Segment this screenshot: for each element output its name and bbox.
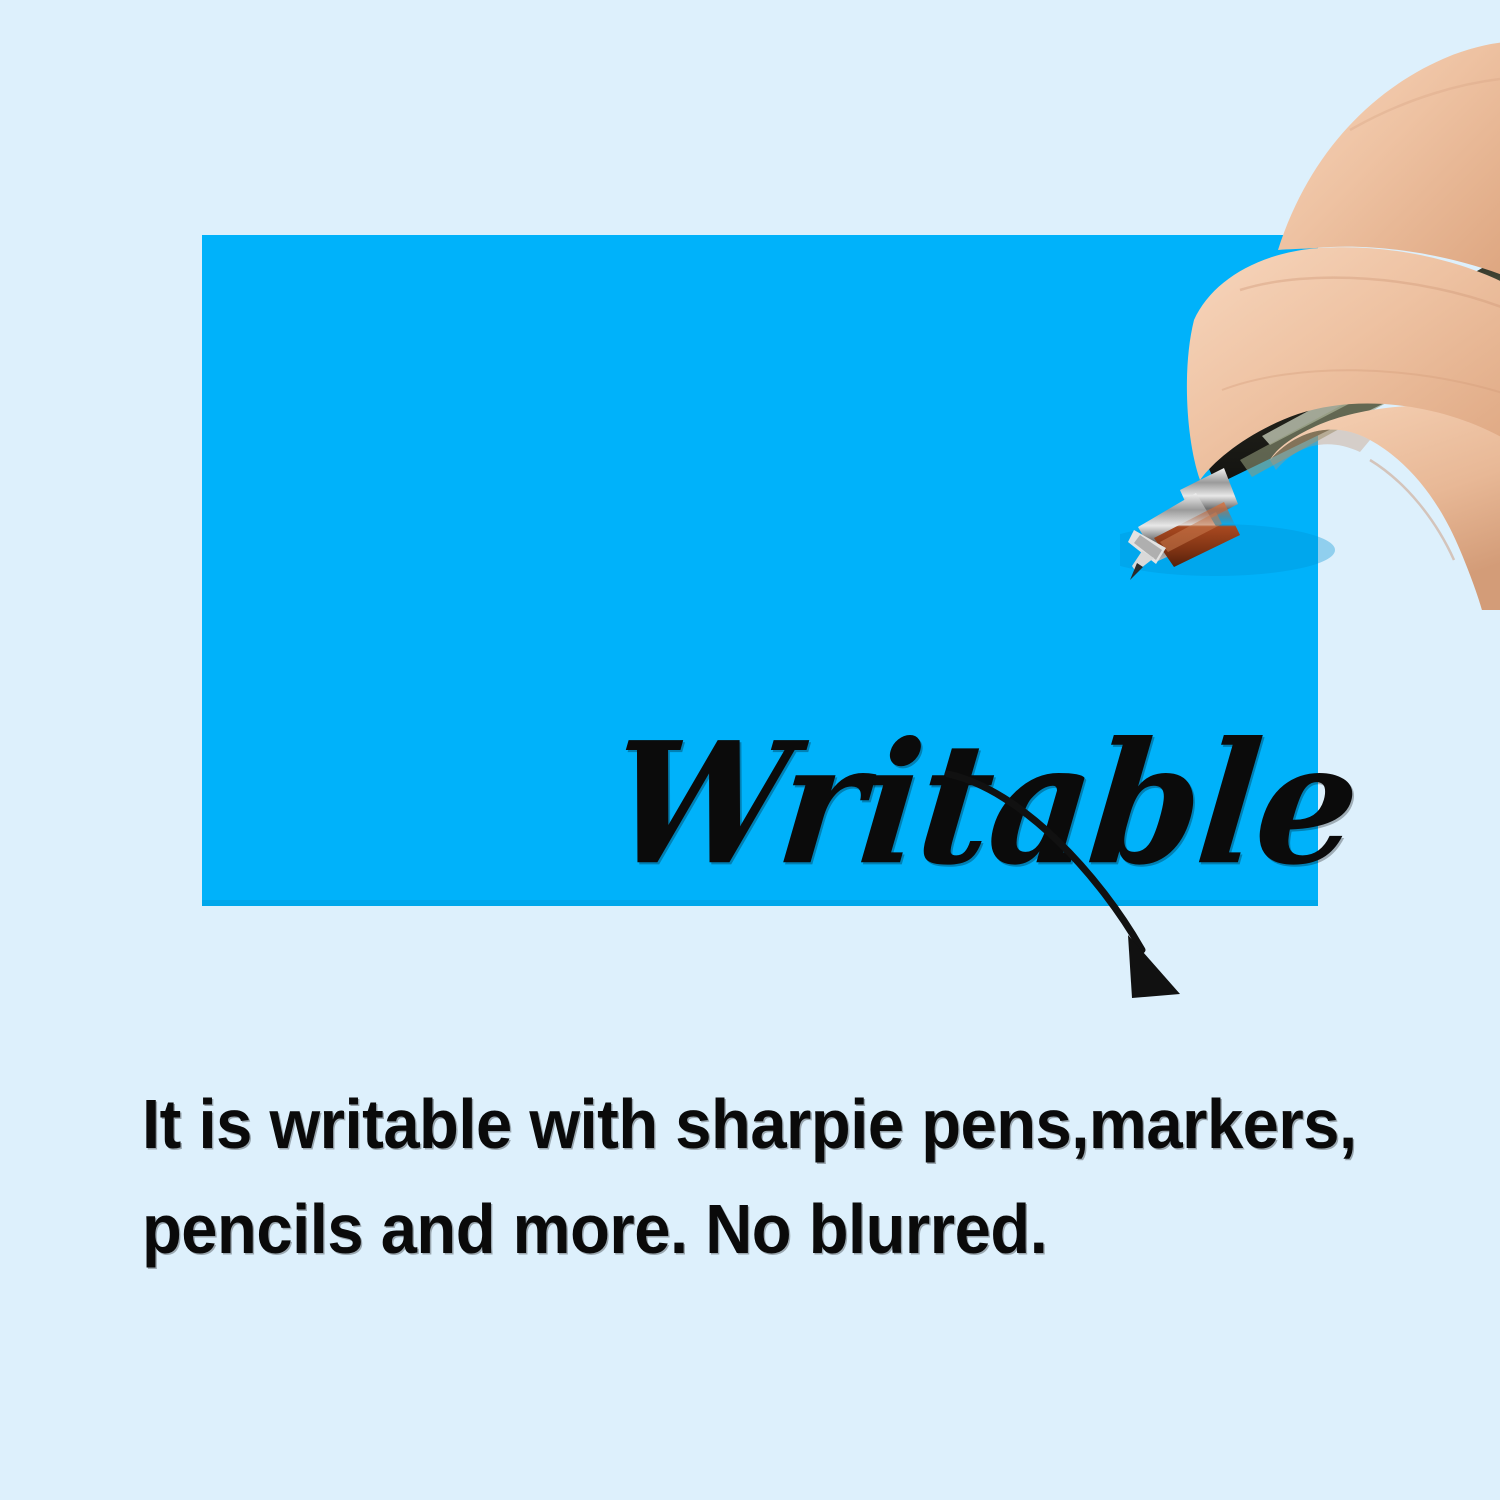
product-feature-image: Writable <box>0 0 1500 1500</box>
curved-arrow <box>930 750 1210 1010</box>
caption-text: It is writable with sharpie pens,markers… <box>142 1072 1370 1282</box>
caption-line-2: pencils and more. No blurred. <box>142 1177 1370 1282</box>
caption-line-1: It is writable with sharpie pens,markers… <box>142 1072 1370 1177</box>
